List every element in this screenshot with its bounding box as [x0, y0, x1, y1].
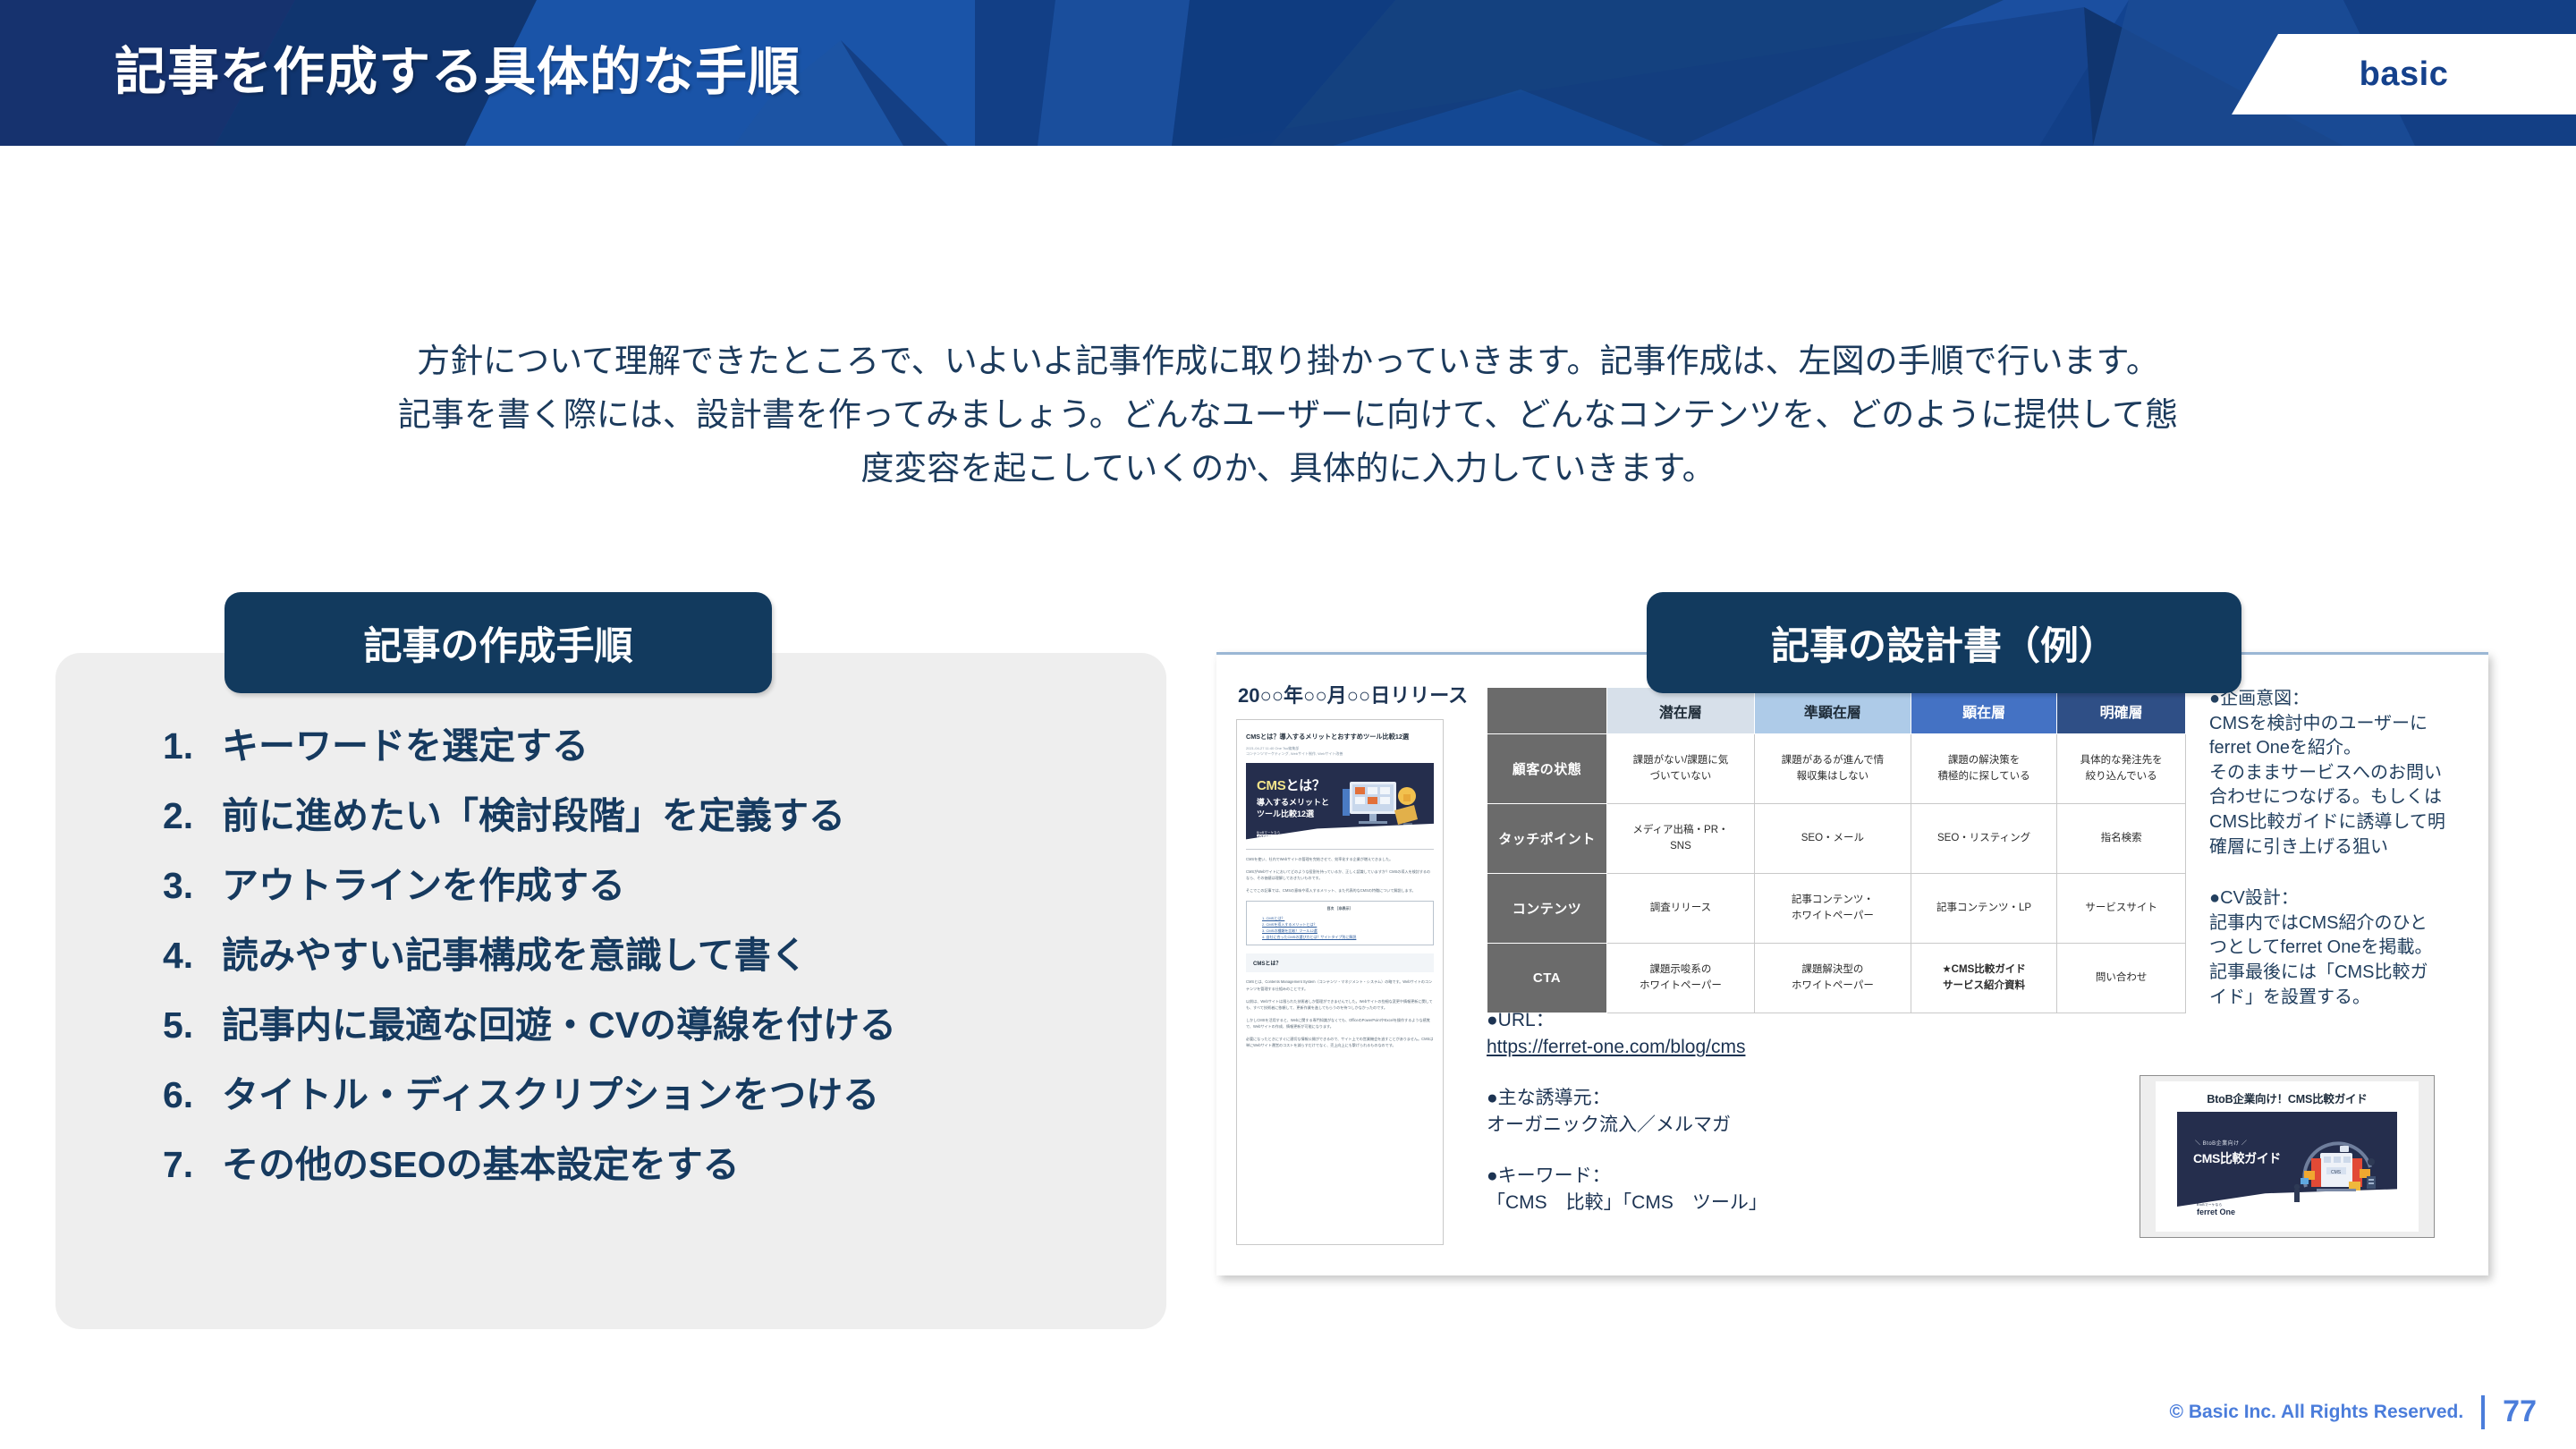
cms-guide-tag: ＼ BtoB企業向け ／: [2195, 1139, 2247, 1147]
article-preview-body-7: 必要になったときにすぐに適切な情報公開ができるので、サイト上での営業機会を逃すこ…: [1246, 1036, 1434, 1048]
slide-header: 記事を作成する具体的な手順 basic: [0, 0, 2576, 146]
lead-line-1: 方針について理解できたところで、いよいよ記事作成に取り掛かっていきます。記事作成…: [107, 335, 2469, 388]
article-preview-title: CMSとは？導入するメリットとおすすめツール比較12選: [1246, 733, 1434, 741]
step-number: 3.: [163, 865, 209, 907]
left-panel-title-pill: 記事の作成手順: [225, 592, 772, 693]
cms-guide-cover-image: ＼ BtoB企業向け ／ CMS比較ガイド CMS: [2177, 1112, 2397, 1223]
hero-logo-name: ferret One: [1257, 835, 1286, 841]
table-cell: 課題の解決策を積極的に探している: [1911, 734, 2056, 804]
keyword-value: 「CMS 比較」「CMS ツール」: [1487, 1190, 1767, 1216]
table-row-label: コンテンツ: [1487, 874, 1607, 944]
step-label: キーワードを選定する: [222, 716, 589, 769]
toc-list: 1. CMSとは？2. CMSを導入するメリットとは？3. CMSの種類を比較！…: [1262, 915, 1427, 940]
hero-brand: CMS: [1257, 778, 1285, 793]
step-item: 4.読みやすい記事構成を意識して書く: [163, 925, 1140, 979]
step-item: 1.キーワードを選定する: [163, 716, 1140, 769]
article-preview-section-heading: CMSとは？: [1246, 953, 1434, 972]
keyword-group: ●キーワード： 「CMS 比較」「CMS ツール」: [1487, 1163, 1767, 1217]
table-cell: サービスサイト: [2057, 874, 2186, 944]
table-row-label: CTA: [1487, 944, 1607, 1013]
table-cell: 具体的な発注先を絞り込んでいる: [2057, 734, 2186, 804]
table-cell: SEO・メール: [1754, 804, 1911, 874]
keyword-label: ●キーワード：: [1487, 1163, 1767, 1190]
cms-guide-title: CMS比較ガイド: [2193, 1149, 2281, 1167]
hero-subtitle-2: ツール比較12選: [1257, 809, 1329, 820]
step-label: タイトル・ディスクリプションをつける: [222, 1064, 879, 1118]
article-preview-meta: 2021-04-27 11:40 One Tsu編集部 コンテンツマーケティング…: [1246, 746, 1434, 757]
lead-line-3: 度変容を起こしていくのか、具体的に入力していきます。: [107, 442, 2469, 496]
copyright-text: © Basic Inc. All Rights Reserved.: [2170, 1402, 2464, 1423]
table-cell: 問い合わせ: [2057, 944, 2186, 1013]
left-panel-title: 記事の作成手順: [364, 615, 633, 671]
step-number: 6.: [163, 1074, 209, 1116]
hero-subtitle: 導入するメリットと ツール比較12選: [1257, 797, 1329, 820]
design-notes: ●企画意図： CMSを検討中のユーザーに ferret Oneを紹介。 そのまま…: [2209, 687, 2470, 1037]
toc-item[interactable]: 3. CMSの種類を比較！ツール12選: [1262, 928, 1427, 934]
design-doc-card: 20○○年○○月○○日リリース CMSとは？導入するメリットとおすすめツール比較…: [1216, 652, 2488, 1275]
lead-paragraph: 方針について理解できたところで、いよいよ記事作成に取り掛かっていきます。記事作成…: [107, 335, 2469, 496]
persona-table-body: 顧客の状態課題がない/課題に気づいていない課題があるが進んで情報収集はしない課題…: [1487, 734, 2186, 1013]
article-preview-body-6: しかしCMSを活用すると、Webに関する専門知識がなくても、OfficeのPow…: [1246, 1017, 1434, 1030]
article-preview-body-4: CMSとは、Contents Management System（コンテンツ・マ…: [1246, 979, 1434, 991]
svg-text:CMS: CMS: [2331, 1170, 2342, 1175]
article-preview-hero-image: CMSとは？ 導入するメリットと ツール比較12選: [1246, 763, 1434, 850]
table-column-header: 潜在層: [1607, 688, 1755, 734]
note-cv-design: ●CV設計： 記事内ではCMS紹介のひと つとしてferret Oneを掲載。 …: [2209, 886, 2470, 1010]
table-cell: 課題解決型のホワイトペーパー: [1754, 944, 1911, 1013]
table-column-header: 準顕在層: [1754, 688, 1911, 734]
note-intent: ●企画意図： CMSを検討中のユーザーに ferret Oneを紹介。 そのまま…: [2209, 687, 2470, 860]
article-steps-panel: 1.キーワードを選定する2.前に進めたい「検討段階」を定義する3.アウトラインを…: [55, 653, 1166, 1329]
level-badge: basic: [2232, 34, 2576, 114]
table-row-label: タッチポイント: [1487, 804, 1607, 874]
lead-line-2: 記事を書く際には、設計書を作ってみましょう。どんなユーザーに向けて、どんなコンテ…: [107, 388, 2469, 442]
step-label: その他のSEOの基本設定をする: [222, 1134, 740, 1188]
step-number: 2.: [163, 795, 209, 837]
step-item: 7.その他のSEOの基本設定をする: [163, 1134, 1140, 1188]
persona-table-header-row: 潜在層準顕在層顕在層明確層: [1487, 688, 2186, 734]
step-item: 6.タイトル・ディスクリプションをつける: [163, 1064, 1140, 1118]
cms-guide-thumbnail: BtoB企業向け！CMS比較ガイド ＼ BtoB企業向け ／ CMS比較ガイド …: [2140, 1075, 2435, 1238]
step-label: 読みやすい記事構成を意識して書く: [222, 925, 808, 979]
toc-item[interactable]: 4. 自社に合ったCMSの選び方とは？サイトタイプ別に解説: [1262, 934, 1427, 940]
table-cell: 調査リリース: [1607, 874, 1755, 944]
step-item: 3.アウトラインを作成する: [163, 855, 1140, 909]
article-preview-body-3: そこでこの記事では、CMSの意味や導入するメリット、また代表的なCMSの特徴につ…: [1246, 887, 1434, 894]
slide-root: 記事を作成する具体的な手順 basic 方針について理解できたところで、いよいよ…: [0, 0, 2576, 1449]
step-label: 記事内に最適な回遊・CVの導線を付ける: [222, 995, 896, 1048]
article-preview-body: CMSとは？導入するメリットとおすすめツール比較12選 2021-04-27 1…: [1246, 733, 1434, 1192]
table-cell: 課題がない/課題に気づいていない: [1607, 734, 1755, 804]
hero-subtitle-1: 導入するメリットと: [1257, 797, 1329, 809]
table-row: CTA課題示唆系のホワイトペーパー課題解決型のホワイトペーパー★CMS比較ガイド…: [1487, 944, 2186, 1013]
step-label: アウトラインを作成する: [222, 855, 625, 909]
hero-ferret-one-logo: BtoBマーケなら ferret One: [1257, 830, 1286, 841]
source-label: ●主な誘導元：: [1487, 1085, 1767, 1112]
cms-guide-illustration: CMS: [2284, 1135, 2390, 1212]
right-panel-title-pill: 記事の設計書（例）: [1647, 592, 2241, 693]
table-corner-cell: [1487, 688, 1607, 734]
toc-item[interactable]: 1. CMSとは？: [1262, 915, 1427, 921]
step-label: 前に進めたい「検討段階」を定義する: [222, 785, 845, 839]
source-value: オーガニック流入／メルマガ: [1487, 1112, 1767, 1139]
toc-item[interactable]: 2. CMSを導入するメリットとは？: [1262, 921, 1427, 928]
cms-guide-ferret-one-logo: BtoBマーケなら ferret One: [2197, 1203, 2235, 1216]
cms-guide-logo-name: ferret One: [2197, 1207, 2235, 1216]
table-cell: 課題があるが進んで情報収集はしない: [1754, 734, 1911, 804]
table-cell: 記事コンテンツ・ホワイトペーパー: [1754, 874, 1911, 944]
article-preview-body-1: CMSを使い、社内でWebサイトの管理を完結させて、効率化する企業が増えてきまし…: [1246, 856, 1434, 862]
table-row: 顧客の状態課題がない/課題に気づいていない課題があるが進んで情報収集はしない課題…: [1487, 734, 2186, 804]
right-panel-title: 記事の設計書（例）: [1771, 615, 2117, 671]
step-item: 2.前に進めたい「検討段階」を定義する: [163, 785, 1140, 839]
cms-guide-card: BtoB企業向け！CMS比較ガイド ＼ BtoB企業向け ／ CMS比較ガイド …: [2156, 1081, 2419, 1232]
article-preview-body-5: 以前は、Webサイトは限られた技術者しか管理ができませんでした。Webサイトの些…: [1246, 998, 1434, 1011]
page-title: 記事を作成する具体的な手順: [114, 30, 801, 105]
article-steps-list: 1.キーワードを選定する2.前に進めたい「検討段階」を定義する3.アウトラインを…: [163, 716, 1140, 1188]
table-cell: ★CMS比較ガイドサービス紹介資料: [1911, 944, 2056, 1013]
article-preview-toc: 目次 ［非表示］ 1. CMSとは？2. CMSを導入するメリットとは？3. C…: [1246, 901, 1434, 945]
article-preview-meta-tags: コンテンツマーケティング, Webサイト制作, Webサイト改善: [1246, 751, 1434, 757]
step-number: 1.: [163, 725, 209, 767]
table-cell: 指名検索: [2057, 804, 2186, 874]
table-column-header: 顕在層: [1911, 688, 2056, 734]
table-cell: 課題示唆系のホワイトペーパー: [1607, 944, 1755, 1013]
url-label: ●URL：: [1487, 1007, 1767, 1034]
table-row: コンテンツ調査リリース記事コンテンツ・ホワイトペーパー記事コンテンツ・LPサービ…: [1487, 874, 2186, 944]
toc-caption: 目次 ［非表示］: [1253, 906, 1427, 911]
table-row: タッチポイントメディア出稿・PR・SNSSEO・メールSEO・リスティング指名検…: [1487, 804, 2186, 874]
step-item: 5.記事内に最適な回遊・CVの導線を付ける: [163, 995, 1140, 1048]
release-date-label: 20○○年○○月○○日リリース: [1238, 680, 1468, 708]
article-preview-body-2: CMSがWebサイトにおいてどのような役割を持っているか、正しく認識していますか…: [1246, 869, 1434, 881]
hero-title-rest: とは？: [1285, 778, 1325, 793]
step-number: 7.: [163, 1144, 209, 1186]
table-cell: SEO・リスティング: [1911, 804, 2056, 874]
step-number: 4.: [163, 935, 209, 977]
url-value-link[interactable]: https://ferret-one.com/blog/cms: [1487, 1034, 1767, 1061]
source-group: ●主な誘導元： オーガニック流入／メルマガ: [1487, 1085, 1767, 1140]
slide-footer: © Basic Inc. All Rights Reserved. 77: [2170, 1394, 2537, 1429]
table-cell: 記事コンテンツ・LP: [1911, 874, 2056, 944]
url-info-block: ●URL： https://ferret-one.com/blog/cms ●主…: [1487, 1007, 1767, 1241]
level-badge-label: basic: [2360, 55, 2449, 94]
page-number: 77: [2503, 1394, 2537, 1429]
step-number: 5.: [163, 1004, 209, 1046]
persona-table-head: 潜在層準顕在層顕在層明確層: [1487, 688, 2186, 734]
footer-divider: [2481, 1395, 2485, 1429]
table-cell: メディア出稿・PR・SNS: [1607, 804, 1755, 874]
article-preview-mockup: CMSとは？導入するメリットとおすすめツール比較12選 2021-04-27 1…: [1236, 719, 1444, 1245]
table-column-header: 明確層: [2057, 688, 2186, 734]
cms-guide-caption: BtoB企業向け！CMS比較ガイド: [2156, 1081, 2419, 1106]
hero-title: CMSとは？: [1257, 775, 1326, 794]
table-row-label: 顧客の状態: [1487, 734, 1607, 804]
persona-stage-table: 潜在層準顕在層顕在層明確層 顧客の状態課題がない/課題に気づいていない課題がある…: [1487, 687, 2186, 1013]
url-group: ●URL： https://ferret-one.com/blog/cms: [1487, 1007, 1767, 1062]
